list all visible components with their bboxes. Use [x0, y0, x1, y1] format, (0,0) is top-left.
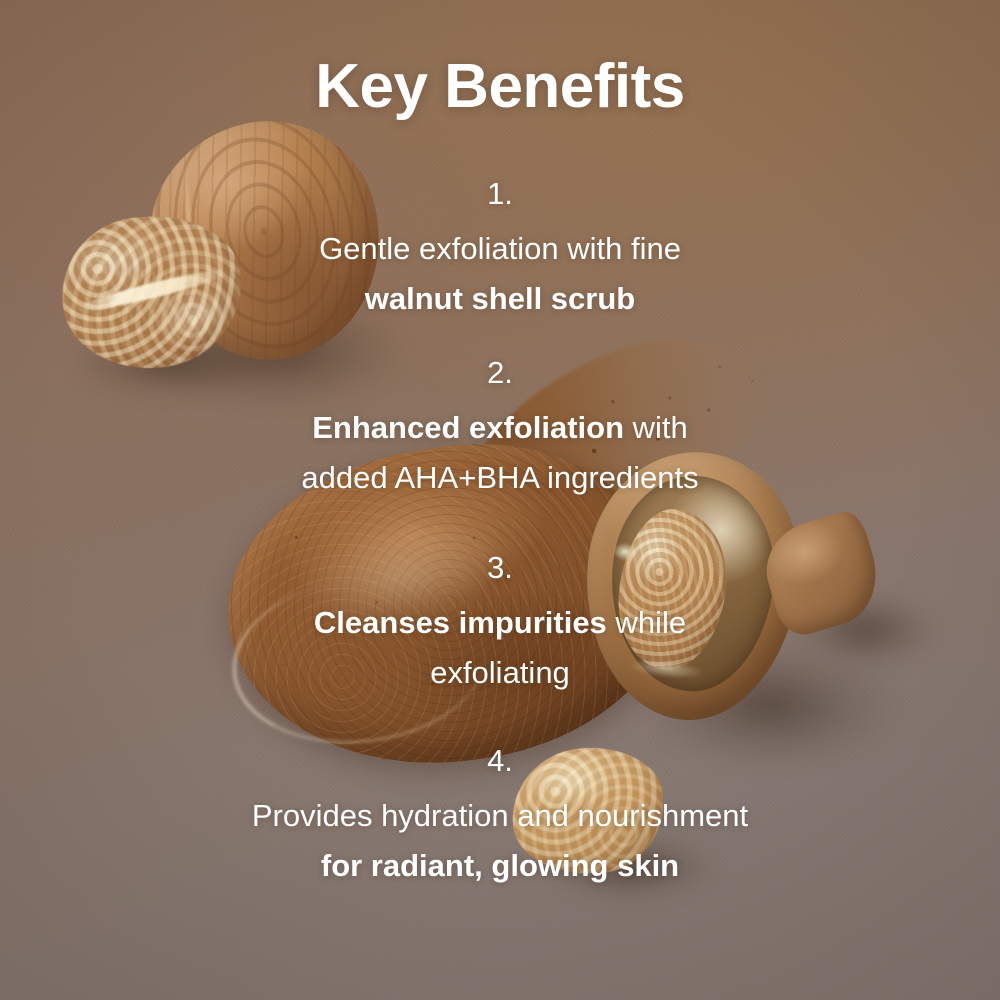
benefit-3-line-1-rest: while — [607, 605, 686, 640]
benefit-1-line-1: Gentle exfoliation with fine — [0, 233, 1000, 264]
benefit-2-number: 2. — [0, 357, 1000, 388]
benefit-item-4: 4. Provides hydration and nourishment fo… — [0, 745, 1000, 881]
benefit-item-2: 2. Enhanced exfoliation with added AHA+B… — [0, 357, 1000, 493]
page-title: Key Benefits — [0, 54, 1000, 119]
benefit-3-line-1: Cleanses impurities while — [0, 607, 1000, 638]
benefit-4-number: 4. — [0, 745, 1000, 776]
benefit-4-line-1: Provides hydration and nourishment — [0, 800, 1000, 831]
benefit-2-emphasis: Enhanced exfoliation — [312, 410, 624, 445]
benefit-2-line-1: Enhanced exfoliation with — [0, 412, 1000, 443]
benefit-3-emphasis: Cleanses impurities — [314, 605, 607, 640]
benefit-1-line-2: walnut shell scrub — [0, 283, 1000, 314]
text-overlay: Key Benefits 1. Gentle exfoliation with … — [0, 0, 1000, 1000]
product-benefits-graphic: Key Benefits 1. Gentle exfoliation with … — [0, 0, 1000, 1000]
benefit-4-line-2: for radiant, glowing skin — [0, 850, 1000, 881]
benefit-item-3: 3. Cleanses impurities while exfoliating — [0, 552, 1000, 688]
benefit-3-number: 3. — [0, 552, 1000, 583]
benefit-2-line-2: added AHA+BHA ingredients — [0, 462, 1000, 493]
benefit-2-line-1-rest: with — [624, 410, 688, 445]
benefit-item-1: 1. Gentle exfoliation with fine walnut s… — [0, 178, 1000, 314]
benefit-3-line-2: exfoliating — [0, 657, 1000, 688]
benefit-1-number: 1. — [0, 178, 1000, 209]
